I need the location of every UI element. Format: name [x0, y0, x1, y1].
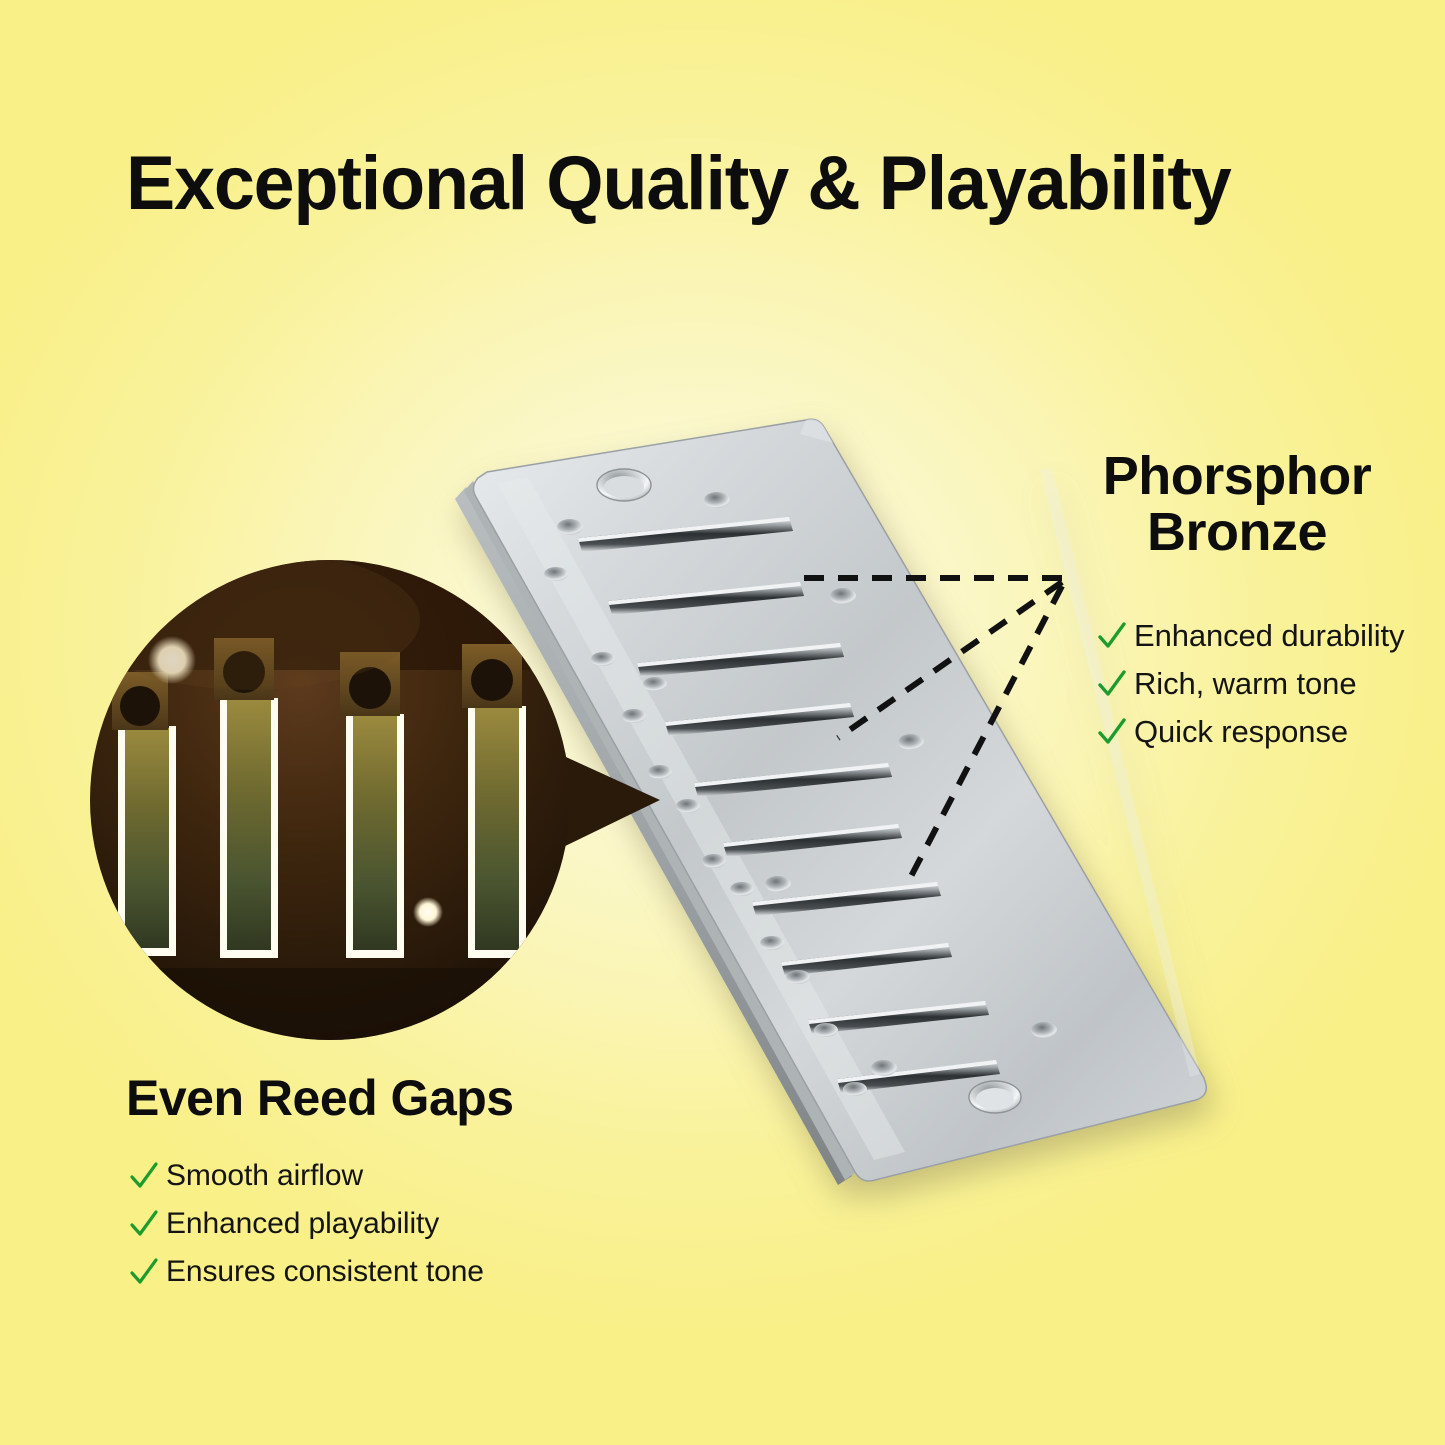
- page-title: Exceptional Quality & Playability: [126, 146, 1231, 222]
- bullet-label: Rich, warm tone: [1134, 666, 1356, 702]
- feature-bullets-phosphor-bronze: Enhanced durability Rich, warm tone Quic…: [1096, 612, 1404, 756]
- bullet-label: Quick response: [1134, 714, 1348, 750]
- bullet-label: Ensures consistent tone: [166, 1255, 484, 1289]
- bullet-label: Enhanced durability: [1134, 618, 1404, 654]
- bullet-label: Smooth airflow: [166, 1159, 363, 1193]
- check-icon: [1096, 620, 1128, 652]
- inset-reed-1: [112, 672, 176, 956]
- feature-bullets-even-reed-gaps: Smooth airflow Enhanced playability Ensu…: [128, 1152, 484, 1296]
- feature-heading-line-1: Phorsphor: [1103, 446, 1372, 506]
- feature-heading-line-2: Bronze: [1147, 502, 1327, 562]
- check-icon: [1096, 668, 1128, 700]
- infographic-canvas: Exceptional Quality & Playability Phorsp…: [0, 0, 1445, 1445]
- check-icon: [1096, 716, 1128, 748]
- check-icon: [128, 1208, 160, 1240]
- check-icon: [128, 1256, 160, 1288]
- bullet-item: Ensures consistent tone: [128, 1248, 484, 1296]
- bullet-item: Quick response: [1096, 708, 1404, 756]
- bullet-item: Enhanced durability: [1096, 612, 1404, 660]
- bullet-item: Rich, warm tone: [1096, 660, 1404, 708]
- bullet-item: Smooth airflow: [128, 1152, 484, 1200]
- bullet-label: Enhanced playability: [166, 1207, 439, 1241]
- feature-heading-phosphor-bronze: Phorsphor Bronze: [1062, 448, 1412, 560]
- inset-reed-4: [462, 644, 526, 958]
- feature-heading-even-reed-gaps: Even Reed Gaps: [126, 1072, 514, 1124]
- inset-reed-3: [340, 652, 404, 958]
- bullet-item: Enhanced playability: [128, 1200, 484, 1248]
- check-icon: [128, 1160, 160, 1192]
